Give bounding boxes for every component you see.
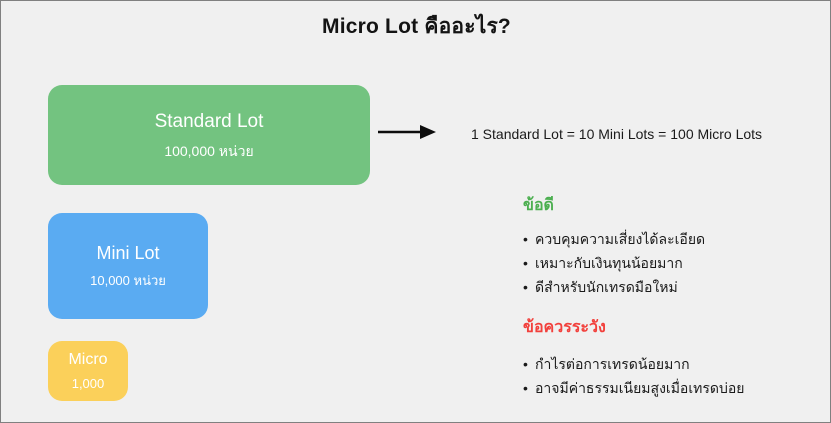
lot-box-micro-subtitle: 1,000 xyxy=(72,374,105,394)
list-item-label: ควบคุมความเสี่ยงได้ละเอียด xyxy=(535,231,705,247)
list-item: •ควบคุมความเสี่ยงได้ละเอียด xyxy=(523,227,705,251)
right-arrow-icon xyxy=(378,121,436,143)
list-item: •เหมาะกับเงินทุนน้อยมาก xyxy=(523,251,705,275)
bullet-icon: • xyxy=(523,251,535,275)
lot-box-standard-subtitle: 100,000 หน่วย xyxy=(164,141,253,161)
lot-box-standard-title: Standard Lot xyxy=(155,110,264,134)
cons-list: •กำไรต่อการเทรดน้อยมาก •อาจมีค่าธรรมเนีย… xyxy=(523,352,744,400)
conversion-equation: 1 Standard Lot = 10 Mini Lots = 100 Micr… xyxy=(471,124,762,144)
lot-box-micro: Micro 1,000 xyxy=(48,341,128,401)
page-title: Micro Lot คืออะไร? xyxy=(1,13,831,41)
cons-heading: ข้อควรระวัง xyxy=(523,317,606,339)
list-item: •อาจมีค่าธรรมเนียมสูงเมื่อเทรดบ่อย xyxy=(523,376,744,400)
bullet-icon: • xyxy=(523,275,535,299)
lot-box-standard: Standard Lot 100,000 หน่วย xyxy=(48,85,370,185)
list-item: •กำไรต่อการเทรดน้อยมาก xyxy=(523,352,744,376)
list-item: •ดีสำหรับนักเทรดมือใหม่ xyxy=(523,275,705,299)
bullet-icon: • xyxy=(523,376,535,400)
slide-canvas: Micro Lot คืออะไร? Standard Lot 100,000 … xyxy=(0,0,831,423)
list-item-label: เหมาะกับเงินทุนน้อยมาก xyxy=(535,255,683,271)
bullet-icon: • xyxy=(523,352,535,376)
lot-box-mini-subtitle: 10,000 หน่วย xyxy=(90,271,166,291)
lot-box-micro-title: Micro xyxy=(68,348,107,372)
list-item-label: ดีสำหรับนักเทรดมือใหม่ xyxy=(535,279,678,295)
lot-box-mini: Mini Lot 10,000 หน่วย xyxy=(48,213,208,319)
list-item-label: อาจมีค่าธรรมเนียมสูงเมื่อเทรดบ่อย xyxy=(535,380,744,396)
list-item-label: กำไรต่อการเทรดน้อยมาก xyxy=(535,356,690,372)
bullet-icon: • xyxy=(523,227,535,251)
lot-box-mini-title: Mini Lot xyxy=(96,241,159,265)
pros-list: •ควบคุมความเสี่ยงได้ละเอียด •เหมาะกับเงิ… xyxy=(523,227,705,299)
pros-heading: ข้อดี xyxy=(523,195,554,217)
